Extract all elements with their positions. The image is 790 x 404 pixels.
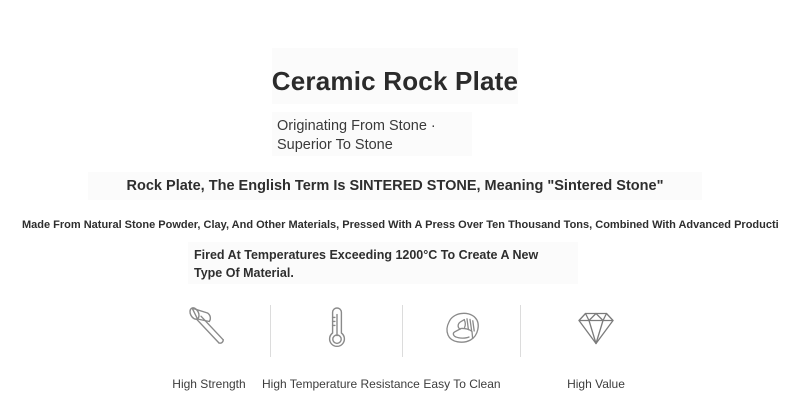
- manufacturing-description: Made From Natural Stone Powder, Clay, An…: [22, 217, 790, 233]
- product-feature-page: Ceramic Rock Plate Originating From Ston…: [0, 0, 790, 404]
- feature-strip: High Strength High Temperature Resistanc…: [0, 300, 790, 400]
- feature-item-high-value: High Value: [521, 300, 671, 392]
- diamond-icon: [521, 300, 671, 356]
- page-subtitle: Originating From Stone · Superior To Sto…: [277, 117, 436, 155]
- feature-label: Easy To Clean: [387, 377, 537, 392]
- feature-item-easy-to-clean: Easy To Clean: [387, 300, 537, 392]
- definition-line: Rock Plate, The English Term Is SINTERED…: [0, 176, 790, 196]
- page-title: Ceramic Rock Plate: [0, 64, 790, 98]
- firing-description: Fired At Temperatures Exceeding 1200°C T…: [194, 246, 594, 282]
- wipe-hand-icon: [387, 300, 537, 356]
- feature-label: High Value: [521, 377, 671, 392]
